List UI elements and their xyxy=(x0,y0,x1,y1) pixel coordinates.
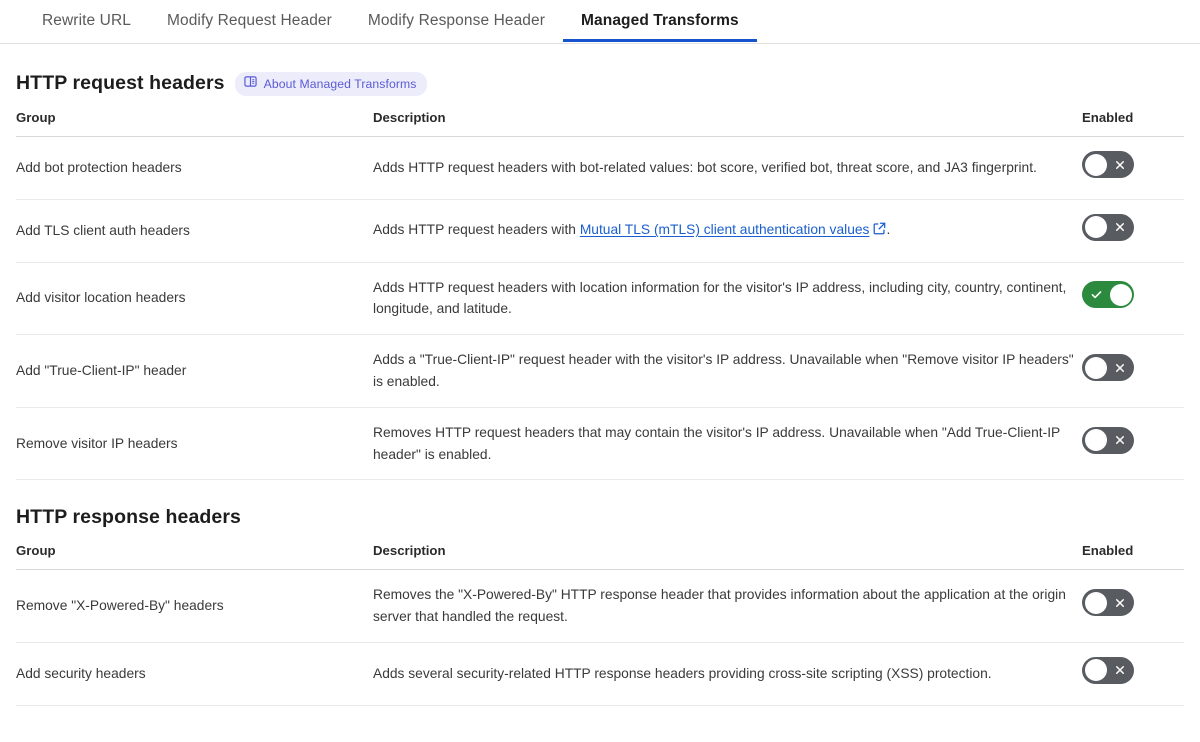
column-header-enabled: Enabled xyxy=(1082,104,1184,137)
column-header-group: Group xyxy=(16,537,373,570)
column-header-group: Group xyxy=(16,104,373,137)
table-row: Add visitor location headersAdds HTTP re… xyxy=(16,262,1184,335)
managed-transforms-table: GroupDescriptionEnabledRemove "X-Powered… xyxy=(16,537,1184,705)
table-row: Add bot protection headersAdds HTTP requ… xyxy=(16,137,1184,200)
toggle-cross-icon xyxy=(1107,657,1133,684)
toggle-knob xyxy=(1085,592,1107,614)
row-description: Adds HTTP request headers with bot-relat… xyxy=(373,137,1082,200)
tab-managed-transforms[interactable]: Managed Transforms xyxy=(563,0,757,29)
row-enabled-cell xyxy=(1082,407,1184,480)
row-enabled-cell xyxy=(1082,137,1184,200)
row-description: Adds HTTP request headers with location … xyxy=(373,262,1082,335)
row-description: Adds HTTP request headers with Mutual TL… xyxy=(373,199,1082,262)
table-row: Add TLS client auth headersAdds HTTP req… xyxy=(16,199,1184,262)
tab-modify-response-header[interactable]: Modify Response Header xyxy=(350,0,563,29)
row-enabled-cell xyxy=(1082,199,1184,262)
toggle-knob xyxy=(1110,284,1132,306)
row-group-name: Add bot protection headers xyxy=(16,137,373,200)
toggle-cross-icon xyxy=(1107,354,1133,381)
toggle-cross-icon xyxy=(1107,151,1133,178)
toggle-knob xyxy=(1085,154,1107,176)
description-text: Adds HTTP request headers with xyxy=(373,222,580,237)
row-group-name: Add TLS client auth headers xyxy=(16,199,373,262)
tab-rewrite-url[interactable]: Rewrite URL xyxy=(24,0,149,29)
enabled-toggle[interactable] xyxy=(1082,657,1134,684)
external-link-icon[interactable] xyxy=(873,220,886,242)
description-text: Removes the "X-Powered-By" HTTP response… xyxy=(373,587,1066,624)
section-title: HTTP request headers xyxy=(16,72,225,95)
about-managed-transforms-badge[interactable]: About Managed Transforms xyxy=(235,72,428,96)
row-description: Adds several security-related HTTP respo… xyxy=(373,642,1082,705)
table-row: Remove visitor IP headersRemoves HTTP re… xyxy=(16,407,1184,480)
toggle-knob xyxy=(1085,659,1107,681)
row-group-name: Remove visitor IP headers xyxy=(16,407,373,480)
description-text: Adds HTTP request headers with location … xyxy=(373,280,1066,317)
enabled-toggle[interactable] xyxy=(1082,589,1134,616)
book-icon xyxy=(244,75,257,93)
toggle-check-icon xyxy=(1083,281,1109,308)
description-text: Adds HTTP request headers with bot-relat… xyxy=(373,160,1037,175)
description-text-after: . xyxy=(886,222,890,237)
description-text: Removes HTTP request headers that may co… xyxy=(373,425,1060,462)
toggle-knob xyxy=(1085,357,1107,379)
enabled-toggle[interactable] xyxy=(1082,427,1134,454)
description-link[interactable]: Mutual TLS (mTLS) client authentication … xyxy=(580,222,870,237)
toggle-knob xyxy=(1085,216,1107,238)
row-enabled-cell xyxy=(1082,335,1184,408)
column-header-enabled: Enabled xyxy=(1082,537,1184,570)
row-enabled-cell xyxy=(1082,642,1184,705)
table-header-row: GroupDescriptionEnabled xyxy=(16,104,1184,137)
section-title: HTTP response headers xyxy=(16,506,241,529)
enabled-toggle[interactable] xyxy=(1082,151,1134,178)
table-row: Add security headersAdds several securit… xyxy=(16,642,1184,705)
section-header: HTTP request headersAbout Managed Transf… xyxy=(16,44,1184,104)
toggle-cross-icon xyxy=(1107,214,1133,241)
row-description: Adds a "True-Client-IP" request header w… xyxy=(373,335,1082,408)
section-http-request-headers: HTTP request headersAbout Managed Transf… xyxy=(16,44,1184,480)
table-row: Remove "X-Powered-By" headersRemoves the… xyxy=(16,570,1184,643)
table-row: Add "True-Client-IP" headerAdds a "True-… xyxy=(16,335,1184,408)
row-group-name: Add visitor location headers xyxy=(16,262,373,335)
row-description: Removes the "X-Powered-By" HTTP response… xyxy=(373,570,1082,643)
row-description: Removes HTTP request headers that may co… xyxy=(373,407,1082,480)
row-group-name: Add "True-Client-IP" header xyxy=(16,335,373,408)
enabled-toggle[interactable] xyxy=(1082,214,1134,241)
tab-bar: Rewrite URLModify Request HeaderModify R… xyxy=(0,0,1200,44)
table-header-row: GroupDescriptionEnabled xyxy=(16,537,1184,570)
description-text: Adds several security-related HTTP respo… xyxy=(373,666,992,681)
column-header-description: Description xyxy=(373,104,1082,137)
enabled-toggle[interactable] xyxy=(1082,281,1134,308)
enabled-toggle[interactable] xyxy=(1082,354,1134,381)
page-content: HTTP request headersAbout Managed Transf… xyxy=(0,44,1200,706)
row-enabled-cell xyxy=(1082,570,1184,643)
row-group-name: Add security headers xyxy=(16,642,373,705)
description-text: Adds a "True-Client-IP" request header w… xyxy=(373,352,1074,389)
toggle-cross-icon xyxy=(1107,589,1133,616)
tab-modify-request-header[interactable]: Modify Request Header xyxy=(149,0,350,29)
row-enabled-cell xyxy=(1082,262,1184,335)
column-header-description: Description xyxy=(373,537,1082,570)
section-http-response-headers: HTTP response headersGroupDescriptionEna… xyxy=(16,480,1184,705)
row-group-name: Remove "X-Powered-By" headers xyxy=(16,570,373,643)
section-header: HTTP response headers xyxy=(16,480,1184,537)
badge-label: About Managed Transforms xyxy=(264,77,417,91)
toggle-cross-icon xyxy=(1107,427,1133,454)
managed-transforms-table: GroupDescriptionEnabledAdd bot protectio… xyxy=(16,104,1184,480)
toggle-knob xyxy=(1085,429,1107,451)
